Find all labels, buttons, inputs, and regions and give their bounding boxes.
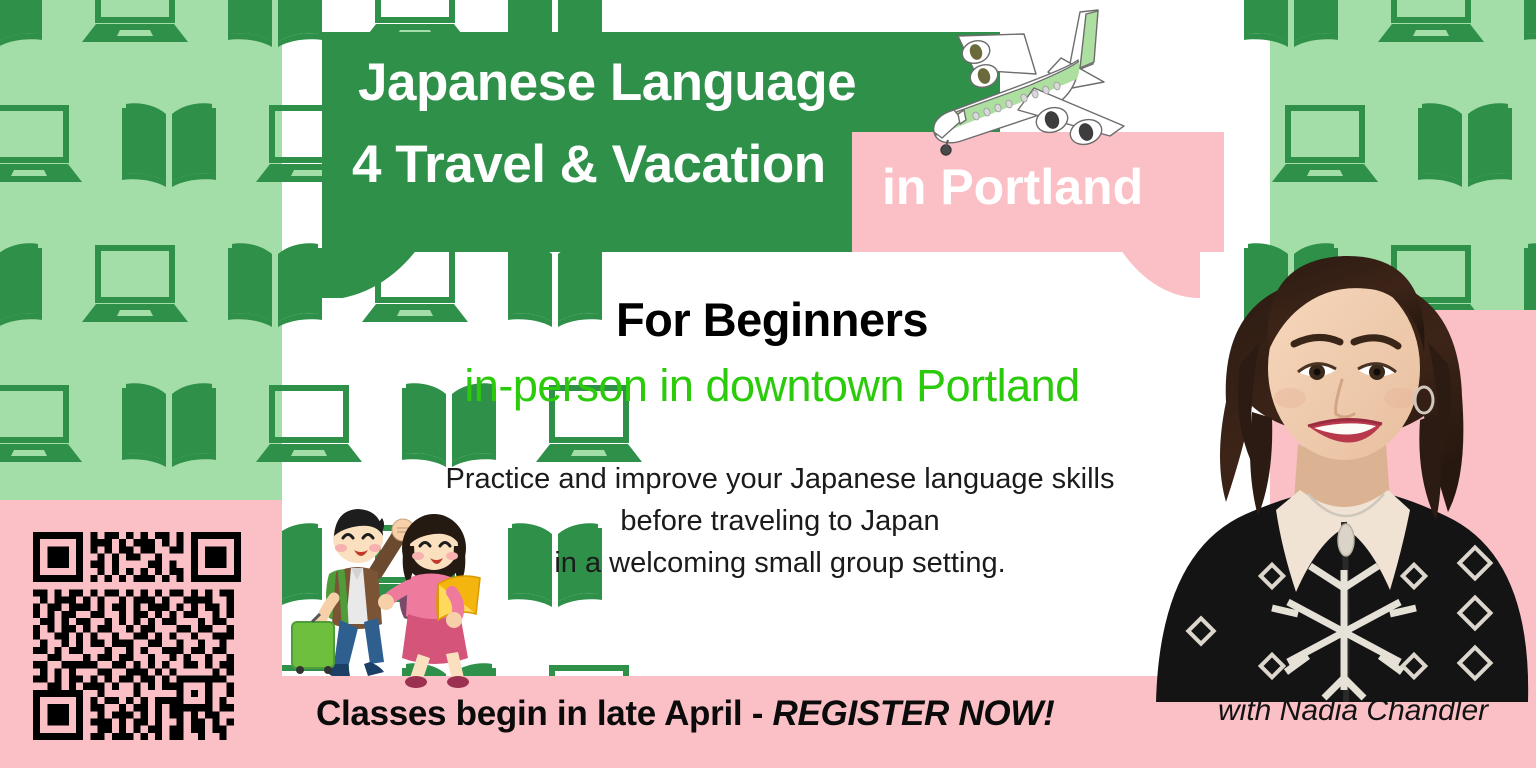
open-book-icon: [0, 228, 80, 368]
open-book-icon: [114, 368, 254, 508]
headline-bubble-tail: [322, 250, 452, 298]
instructor-photo-icon: [1148, 222, 1536, 702]
laptop-icon: [80, 0, 220, 88]
laptop-icon: [1270, 88, 1410, 228]
travelers-illustration-icon: [296, 498, 496, 686]
cta-emphasis: REGISTER NOW!: [773, 694, 1055, 733]
laptop-icon: [80, 228, 220, 368]
qr-code-icon[interactable]: [33, 532, 241, 740]
audience-heading: For Beginners: [282, 292, 1262, 347]
format-subheading: in-person in downtown Portland: [282, 360, 1262, 412]
headline-line-2: 4 Travel & Vacation: [352, 134, 826, 195]
promotional-banner: Japanese Language 4 Travel & Vacation in…: [0, 0, 1536, 768]
open-book-icon: [1410, 88, 1536, 228]
open-book-icon: [1516, 0, 1536, 88]
cta-text: Classes begin in late April - REGISTER N…: [316, 694, 1054, 734]
laptop-icon: [0, 88, 114, 228]
cta-prefix: Classes begin in late April -: [316, 694, 773, 733]
airplane-icon: [928, 4, 1150, 184]
instructor-credit: with Nadia Chandler: [1218, 694, 1488, 728]
open-book-icon: [0, 0, 80, 88]
laptop-icon: [0, 368, 114, 508]
description-line-1: Practice and improve your Japanese langu…: [330, 458, 1230, 500]
open-book-icon: [114, 88, 254, 228]
laptop-icon: [1376, 0, 1516, 88]
open-book-icon: [1236, 0, 1376, 88]
pattern-band-left: [0, 0, 282, 500]
headline-line-1: Japanese Language: [358, 52, 856, 113]
